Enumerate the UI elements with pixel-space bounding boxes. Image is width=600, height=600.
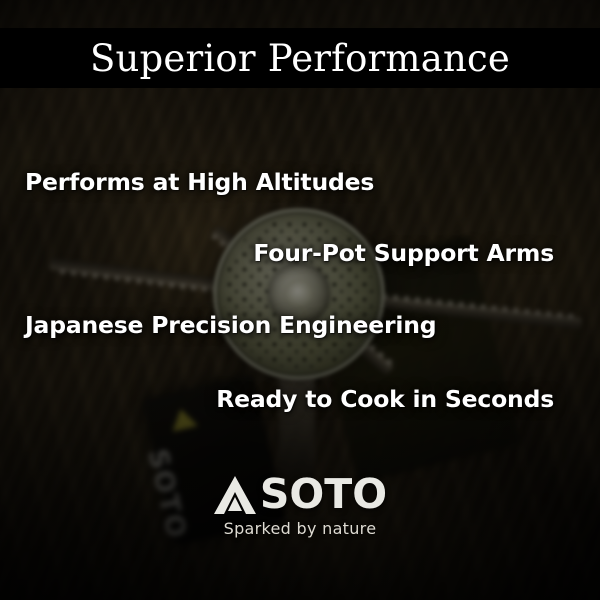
title-band: Superior Performance bbox=[0, 28, 600, 88]
brand-name: SOTO bbox=[260, 474, 387, 515]
poster: CU SOTO Superior Performance Performs at… bbox=[0, 0, 600, 600]
logo-row: SOTO bbox=[0, 474, 600, 515]
feature-item-altitude: Performs at High Altitudes bbox=[25, 168, 374, 196]
page-title: Superior Performance bbox=[90, 40, 510, 77]
brand-logo: SOTO Sparked by nature bbox=[0, 474, 600, 538]
feature-item-engineering: Japanese Precision Engineering bbox=[25, 311, 436, 339]
feature-item-ready-to-cook: Ready to Cook in Seconds bbox=[216, 385, 554, 413]
triangle-tent-icon bbox=[213, 475, 257, 515]
feature-item-support-arms: Four-Pot Support Arms bbox=[253, 239, 554, 267]
brand-tagline: Sparked by nature bbox=[0, 519, 600, 538]
